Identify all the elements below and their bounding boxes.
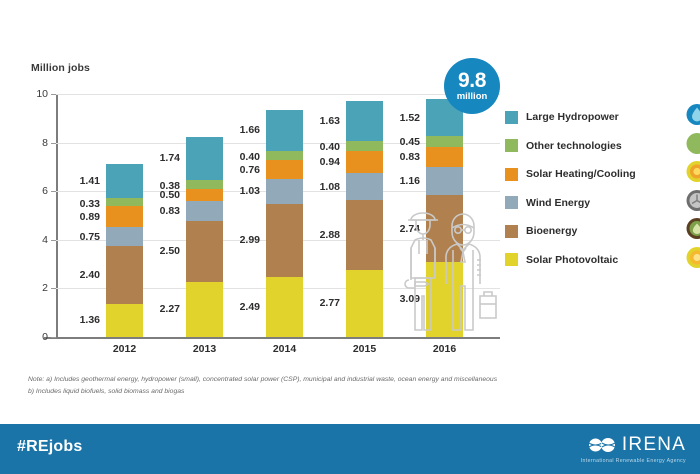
- bar-segment-value-label: 2.27: [160, 303, 180, 315]
- bar-group[interactable]: 1.362.400.750.890.331.412012: [106, 94, 143, 337]
- bar-segment-value-label: 1.16: [400, 175, 420, 187]
- y-axis-tick-label: 2: [42, 282, 48, 294]
- footnote-line-b: b) Includes liquid biofuels, solid bioma…: [28, 386, 628, 398]
- bar-segment[interactable]: 2.50: [186, 221, 223, 282]
- bar-segment[interactable]: 0.83: [186, 201, 223, 221]
- bar-segment-value-label: 2.40: [80, 269, 100, 281]
- x-axis-tick-label: 2013: [186, 343, 223, 355]
- legend-color-swatch: [505, 168, 518, 181]
- bar-segment[interactable]: 0.45: [426, 136, 463, 147]
- bar-segment-value-label: 0.33: [80, 198, 100, 210]
- legend-color-swatch: [505, 111, 518, 124]
- legend-item-bioenergy[interactable]: Bioenergy: [505, 217, 700, 246]
- bar-segment-value-label: 1.08: [320, 181, 340, 193]
- y-axis-tick-mark: [51, 191, 56, 192]
- legend-color-swatch: [505, 253, 518, 266]
- bar-segment-value-label: 2.99: [240, 234, 260, 246]
- bioenergy-leaf-icon: [686, 218, 700, 245]
- water-drop-icon: [686, 104, 700, 131]
- y-axis-tick-mark: [51, 143, 56, 144]
- legend-item-label: Solar Heating/Cooling: [526, 168, 636, 180]
- bar-segment[interactable]: 1.41: [106, 164, 143, 198]
- legend-item-label: Bioenergy: [526, 225, 577, 237]
- chart-footnote: Note: a) Includes geothermal energy, hyd…: [28, 374, 628, 398]
- bar-segment-value-label: 0.45: [400, 136, 420, 148]
- legend-item-large-hydropower[interactable]: Large Hydropower: [505, 103, 700, 132]
- bar-segment[interactable]: 0.33: [106, 198, 143, 206]
- wind-turbine-icon: [686, 189, 700, 216]
- bar-segment[interactable]: 0.38: [186, 180, 223, 189]
- bar-segment[interactable]: 2.99: [266, 204, 303, 277]
- bar-segment-value-label: 0.76: [240, 164, 260, 176]
- solar-heating-icon: [686, 161, 700, 188]
- y-axis-tick-label: 0: [42, 331, 48, 343]
- irena-globe-icon: [587, 435, 617, 455]
- legend-item-solar-photovoltaic[interactable]: Solar Photovoltaic: [505, 246, 700, 275]
- legend-item-other-technologies[interactable]: Other technologies: [505, 132, 700, 161]
- legend-color-swatch: [505, 196, 518, 209]
- y-axis-tick-label: 10: [36, 88, 48, 100]
- bar-segment[interactable]: 0.40: [266, 151, 303, 161]
- bar-segment[interactable]: 0.40: [346, 141, 383, 151]
- y-axis-title: Million jobs: [31, 62, 90, 74]
- chart-legend: Large HydropowerOther technologiesSolar …: [505, 103, 700, 274]
- solar-pv-sun-icon: [686, 246, 700, 273]
- legend-item-label: Solar Photovoltaic: [526, 254, 618, 266]
- bar-segment-value-label: 1.41: [80, 175, 100, 187]
- bar-segment[interactable]: 0.75: [106, 227, 143, 245]
- y-axis-tick-mark: [51, 288, 56, 289]
- hashtag-label: #REjobs: [17, 438, 82, 456]
- legend-item-label: Wind Energy: [526, 197, 590, 209]
- infographic-root: Million jobs 02468101.362.400.750.890.33…: [0, 0, 700, 474]
- bar-segment[interactable]: 1.03: [266, 179, 303, 204]
- badge-unit: million: [457, 92, 488, 102]
- y-axis-tick-mark: [51, 94, 56, 95]
- irena-tagline: International Renewable Energy Agency: [581, 458, 686, 464]
- bar-segment-value-label: 0.38: [160, 180, 180, 192]
- bar-segment-value-label: 2.49: [240, 301, 260, 313]
- y-axis-tick-mark: [51, 240, 56, 241]
- irena-wordmark: IRENA: [622, 435, 686, 454]
- badge-value: 9.8: [458, 70, 486, 91]
- bar-group[interactable]: 2.272.500.830.500.381.742013: [186, 94, 223, 337]
- bar-segment[interactable]: 0.83: [426, 147, 463, 167]
- bar-segment-value-label: 0.83: [160, 205, 180, 217]
- legend-item-solar-heating-cooling[interactable]: Solar Heating/Cooling: [505, 160, 700, 189]
- total-jobs-badge: 9.8 million: [444, 58, 500, 114]
- bar-segment[interactable]: 2.88: [346, 200, 383, 270]
- other-technologies-icon: [686, 132, 700, 159]
- bar-segment[interactable]: 2.49: [266, 277, 303, 338]
- bar-segment[interactable]: 0.89: [106, 206, 143, 228]
- bar-segment-value-label: 0.94: [320, 156, 340, 168]
- bar-segment-value-label: 1.52: [400, 112, 420, 124]
- footnote-line-a: Note: a) Includes geothermal energy, hyd…: [28, 374, 628, 386]
- legend-color-swatch: [505, 225, 518, 238]
- bar-segment[interactable]: 2.27: [186, 282, 223, 337]
- bar-group[interactable]: 2.772.881.080.940.401.632015: [346, 94, 383, 337]
- bar-segment[interactable]: 1.16: [426, 167, 463, 195]
- bar-segment-value-label: 0.40: [320, 141, 340, 153]
- x-axis-tick-label: 2012: [106, 343, 143, 355]
- x-axis-tick-label: 2016: [426, 343, 463, 355]
- bar-segment-value-label: 0.89: [80, 211, 100, 223]
- bar-segment[interactable]: 1.08: [346, 173, 383, 199]
- bar-segment[interactable]: 1.74: [186, 137, 223, 179]
- worker-silhouettes: [397, 198, 497, 343]
- bar-segment-value-label: 1.63: [320, 115, 340, 127]
- bar-segment[interactable]: 1.63: [346, 101, 383, 141]
- legend-item-wind-energy[interactable]: Wind Energy: [505, 189, 700, 218]
- legend-color-swatch: [505, 139, 518, 152]
- y-axis-tick-label: 8: [42, 137, 48, 149]
- bar-segment[interactable]: 1.36: [106, 304, 143, 337]
- bar-segment-value-label: 0.40: [240, 151, 260, 163]
- bar-segment[interactable]: 2.40: [106, 246, 143, 304]
- y-axis-tick-label: 6: [42, 185, 48, 197]
- bar-group[interactable]: 2.492.991.030.760.401.662014: [266, 94, 303, 337]
- bar-segment[interactable]: 1.66: [266, 110, 303, 150]
- x-axis-tick-label: 2014: [266, 343, 303, 355]
- bar-segment-value-label: 1.74: [160, 152, 180, 164]
- bar-segment[interactable]: 0.94: [346, 151, 383, 174]
- bar-segment-value-label: 2.88: [320, 229, 340, 241]
- bar-segment-value-label: 0.83: [400, 151, 420, 163]
- bar-segment[interactable]: 2.77: [346, 270, 383, 337]
- footer-bar: #REjobs IRENA International Renewable En…: [0, 424, 700, 474]
- bar-segment[interactable]: 0.50: [186, 189, 223, 201]
- irena-logo: IRENA: [587, 435, 686, 455]
- bar-segment[interactable]: 0.76: [266, 160, 303, 178]
- male-worker-icon: [446, 214, 496, 330]
- bar-segment-value-label: 0.75: [80, 231, 100, 243]
- x-axis-tick-label: 2015: [346, 343, 383, 355]
- bar-segment-value-label: 2.50: [160, 245, 180, 257]
- bar-segment-value-label: 1.66: [240, 124, 260, 136]
- legend-item-label: Large Hydropower: [526, 111, 619, 123]
- bar-segment-value-label: 1.36: [80, 314, 100, 326]
- female-worker-icon: [405, 213, 438, 330]
- legend-item-label: Other technologies: [526, 140, 622, 152]
- bar-segment-value-label: 1.03: [240, 185, 260, 197]
- y-axis-tick-mark: [51, 337, 56, 338]
- bar-segment-value-label: 2.77: [320, 297, 340, 309]
- y-axis-line: [56, 94, 58, 339]
- y-axis-tick-label: 4: [42, 234, 48, 246]
